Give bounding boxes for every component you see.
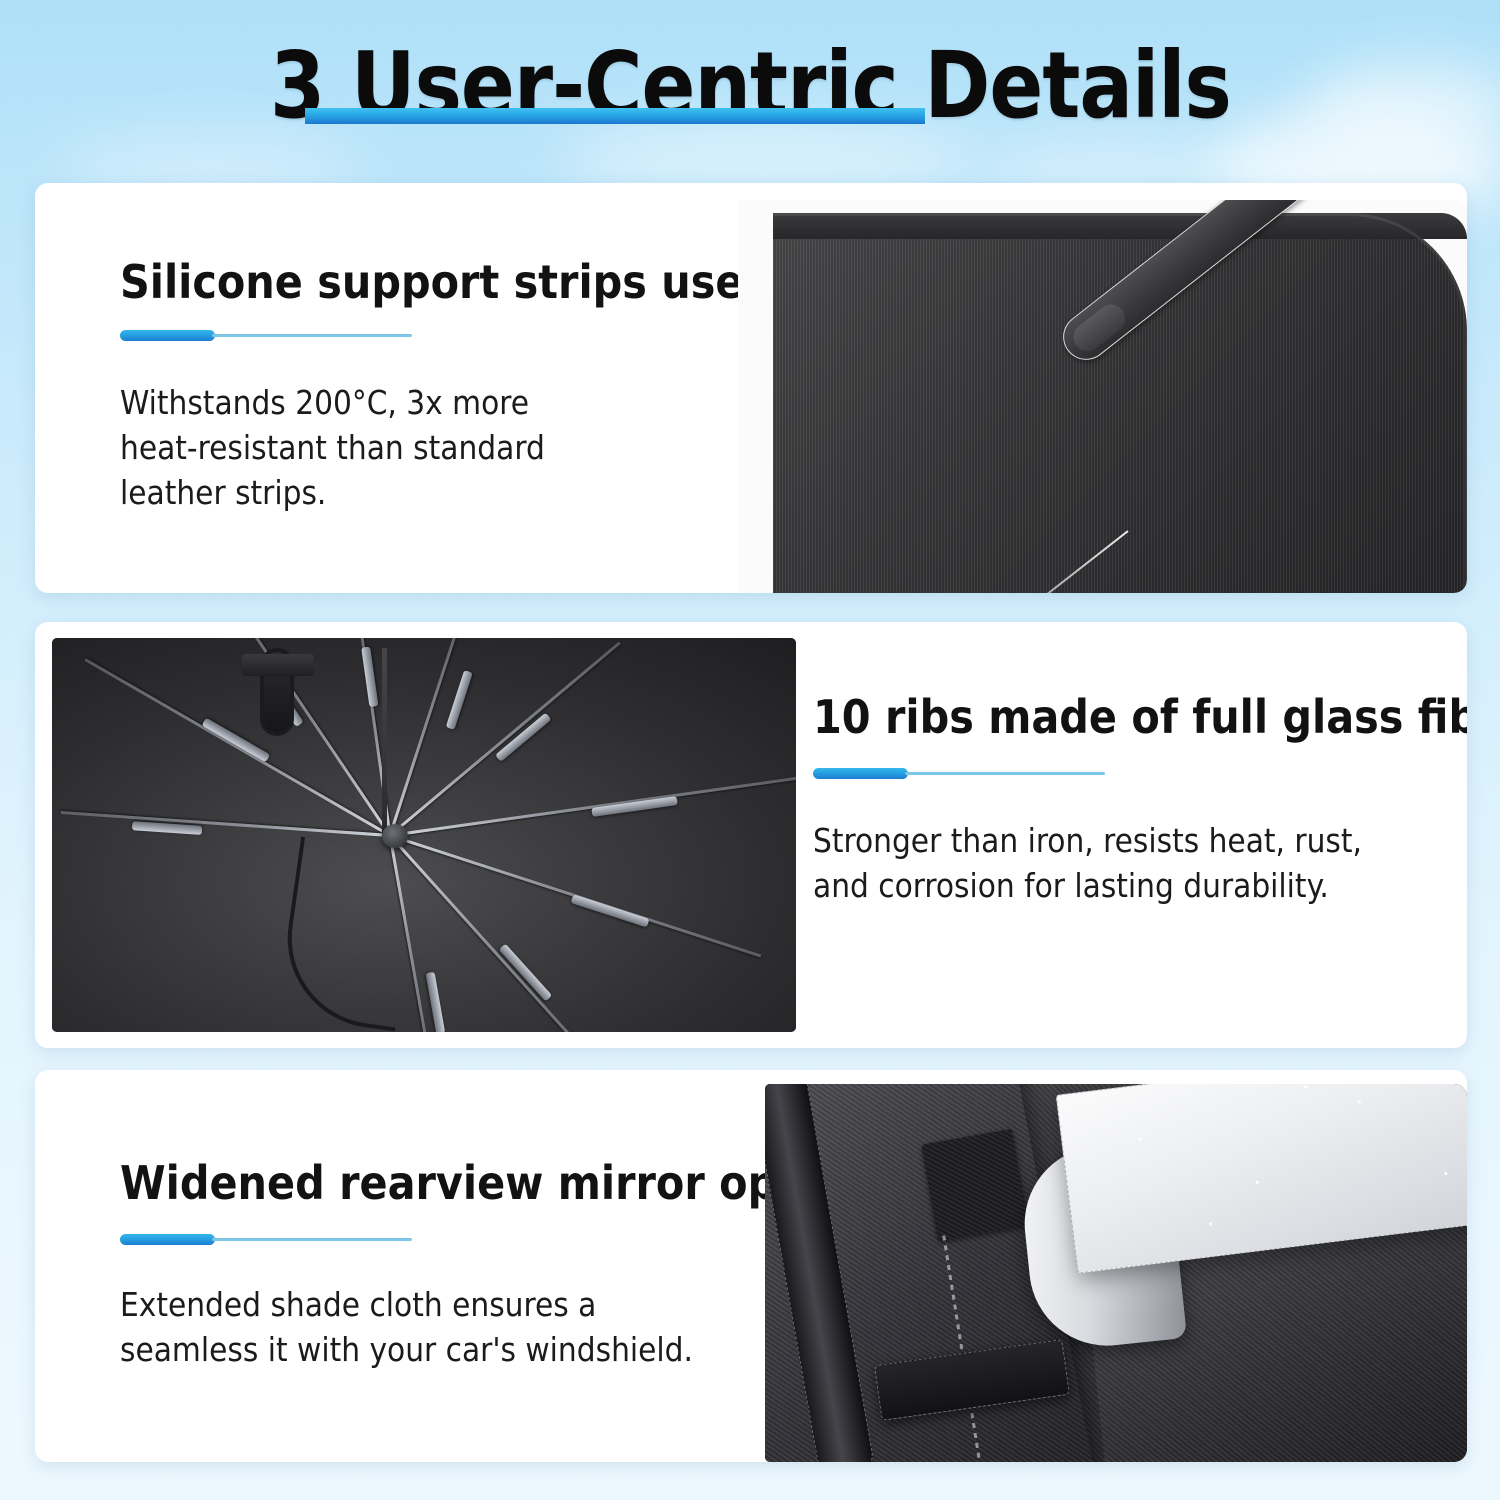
card-divider — [813, 768, 1105, 779]
feature-card-silicone-strips: Silicone support strips used Withstands … — [35, 183, 1467, 593]
card-text-pane: Silicone support strips used Withstands … — [120, 183, 720, 593]
card-heading: Silicone support strips used — [120, 255, 773, 309]
rib-hub — [382, 824, 408, 848]
card-body-text: Extended shade cloth ensures a seamless … — [120, 1282, 720, 1372]
card-image-mirror-opening — [765, 1084, 1467, 1462]
card-body-text: Stronger than iron, resists heat, rust, … — [813, 818, 1413, 908]
feature-card-glass-fiber-ribs: 10 ribs made of full glass fiber Stronge… — [35, 622, 1467, 1048]
card-heading: 10 ribs made of full glass fiber — [813, 690, 1467, 744]
title-underline-bar — [305, 108, 925, 124]
center-shaft — [382, 648, 387, 838]
divider-thick-segment — [120, 1234, 215, 1245]
page-title-block: 3 User-Centric Details — [0, 36, 1500, 146]
divider-thin-segment — [212, 1238, 412, 1241]
card-text-pane: Widened rearview mirror opening Extended… — [120, 1070, 780, 1462]
divider-thick-segment — [813, 768, 908, 779]
velcro-patch — [921, 1129, 1029, 1241]
card-text-pane: 10 ribs made of full glass fiber Stronge… — [813, 622, 1453, 1048]
divider-thick-segment — [120, 330, 215, 341]
card-body-text: Withstands 200°C, 3x more heat-resistant… — [120, 380, 610, 515]
card-image-silicone-strip — [738, 200, 1467, 593]
divider-thin-segment — [212, 334, 412, 337]
card-image-umbrella-ribs — [52, 638, 796, 1032]
divider-thin-segment — [905, 772, 1105, 775]
handle-tab — [242, 654, 314, 676]
feature-card-mirror-opening: Widened rearview mirror opening Extended… — [35, 1070, 1467, 1462]
card-divider — [120, 330, 412, 341]
canopy-fabric — [52, 638, 796, 1032]
card-divider — [120, 1234, 412, 1245]
